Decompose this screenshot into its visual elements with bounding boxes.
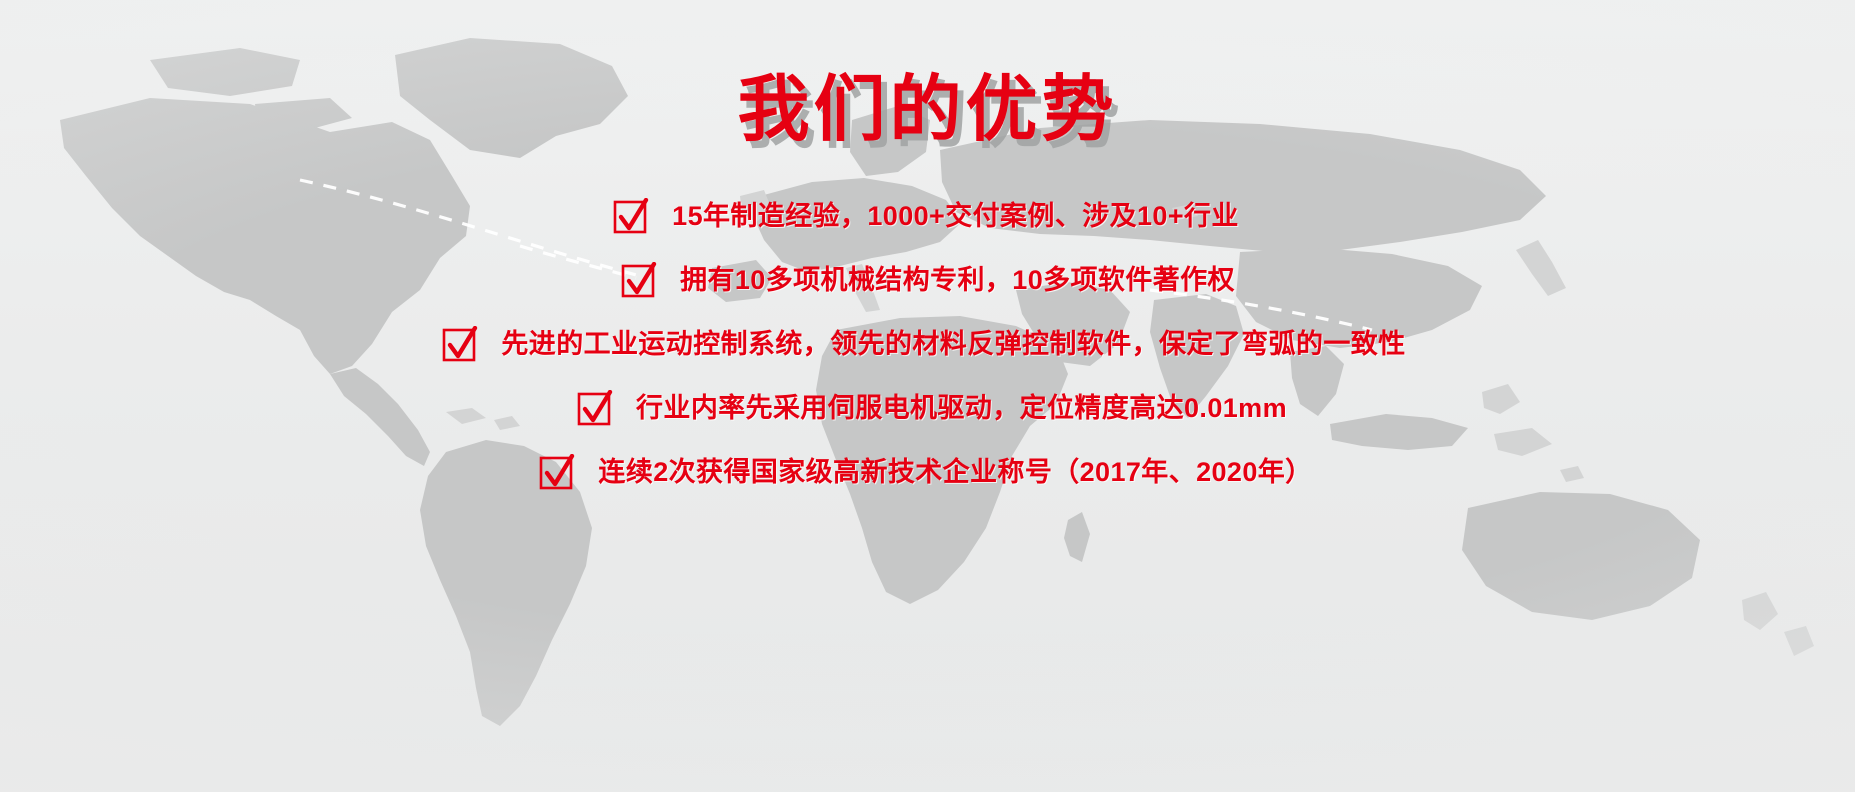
- advantage-text: 行业内率先采用伺服电机驱动，定位精度高达0.01mm: [636, 393, 1287, 424]
- list-item: 拥有10多项机械结构专利，10多项软件著作权: [620, 262, 1235, 300]
- checkbox-checked-icon: [538, 454, 576, 492]
- banner-content: 我们的优势 15年制造经验，1000+交付案例、涉及10+行业: [0, 0, 1855, 792]
- advantage-text: 15年制造经验，1000+交付案例、涉及10+行业: [672, 201, 1239, 232]
- checkbox-checked-icon: [612, 198, 650, 236]
- list-item: 先进的工业运动控制系统，领先的材料反弹控制软件，保定了弯弧的一致性: [441, 326, 1405, 364]
- checkbox-checked-icon: [620, 262, 658, 300]
- advantage-text: 先进的工业运动控制系统，领先的材料反弹控制软件，保定了弯弧的一致性: [501, 329, 1405, 360]
- checkbox-checked-icon: [576, 390, 614, 428]
- advantage-text: 连续2次获得国家级高新技术企业称号（2017年、2020年）: [598, 457, 1312, 488]
- list-item: 连续2次获得国家级高新技术企业称号（2017年、2020年）: [538, 454, 1312, 492]
- list-item: 15年制造经验，1000+交付案例、涉及10+行业: [612, 198, 1239, 236]
- list-item: 行业内率先采用伺服电机驱动，定位精度高达0.01mm: [576, 390, 1287, 428]
- advantages-list: 15年制造经验，1000+交付案例、涉及10+行业 拥有10多项机械结构专利，1…: [0, 198, 1855, 518]
- advantage-text: 拥有10多项机械结构专利，10多项软件著作权: [680, 265, 1235, 296]
- checkbox-checked-icon: [441, 326, 479, 364]
- advantages-banner: 我们的优势 15年制造经验，1000+交付案例、涉及10+行业: [0, 0, 1855, 792]
- page-title: 我们的优势: [737, 74, 1117, 146]
